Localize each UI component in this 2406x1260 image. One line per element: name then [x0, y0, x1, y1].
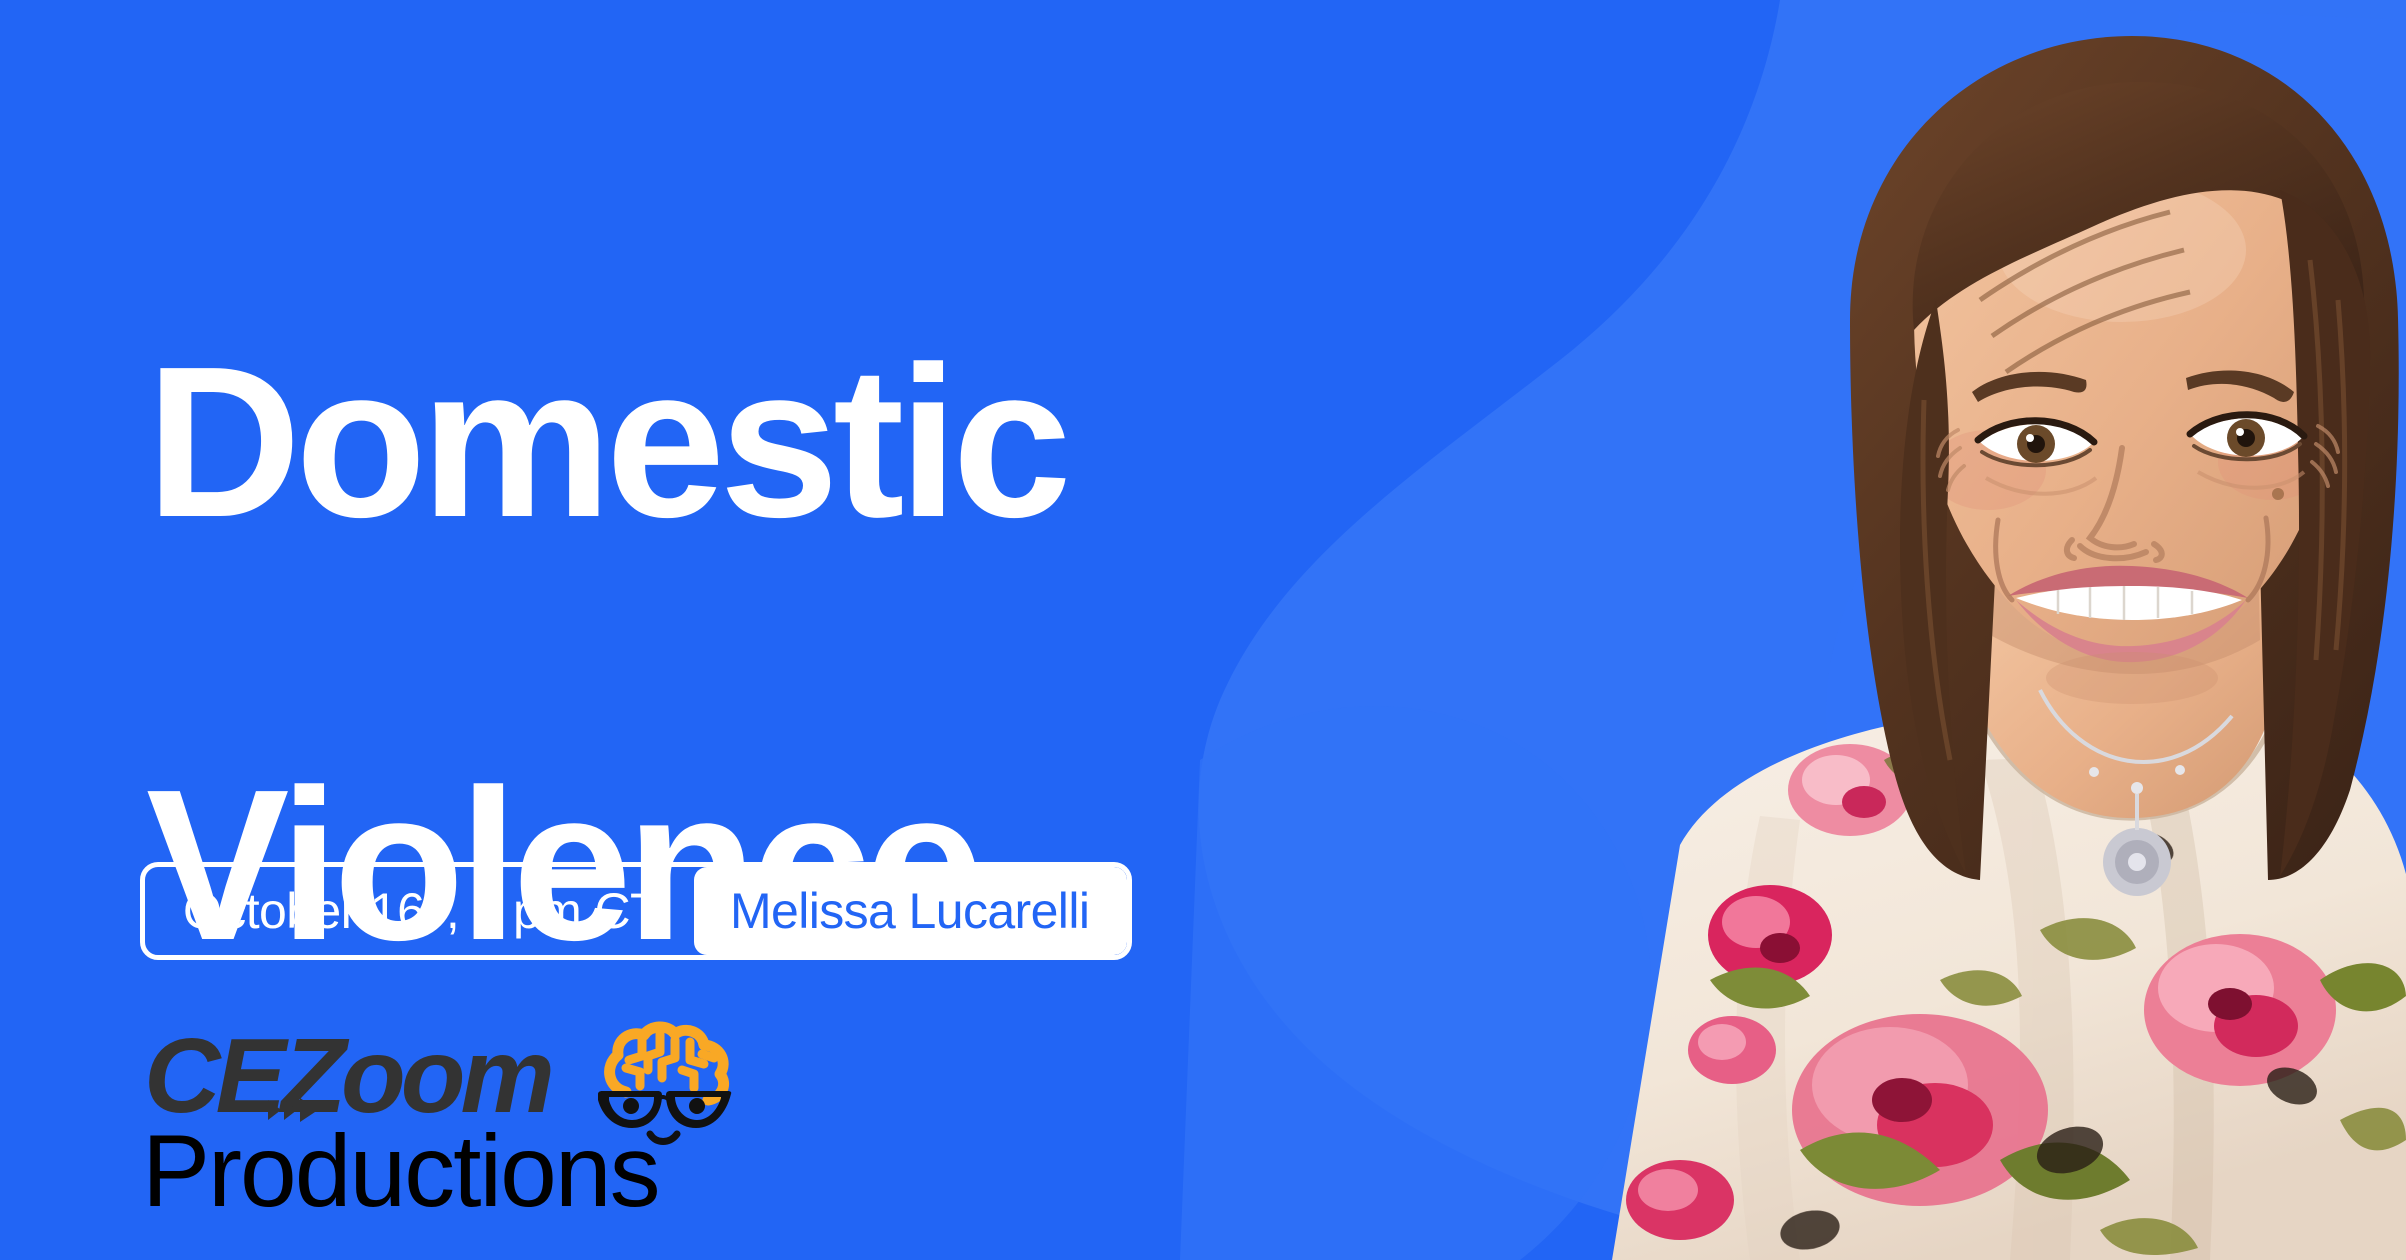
speaker-name: Melissa Lucarelli	[730, 882, 1089, 940]
event-date-prefix: October 16	[183, 882, 424, 940]
logo-wordmark-productions: Productions	[144, 1114, 659, 1228]
event-date-time: October 16th, 7 pm CT	[145, 867, 694, 955]
left-pupil	[623, 1098, 639, 1114]
event-info-pill: October 16th, 7 pm CT Melissa Lucarelli	[140, 862, 1132, 960]
chin-shadow	[2046, 652, 2218, 704]
cezoom-productions-logo[interactable]: CEZoom	[144, 1016, 764, 1231]
headline-line-1: Domestic	[146, 336, 1326, 548]
speaker-name-panel: Melissa Lucarelli	[694, 867, 1127, 955]
speaker-portrait	[1380, 0, 2406, 1260]
right-pupil	[689, 1098, 705, 1114]
banner-canvas: Domestic Violence October 16th, 7 pm CT …	[0, 0, 2406, 1260]
event-date-suffix: , 7 pm CT	[446, 882, 660, 940]
